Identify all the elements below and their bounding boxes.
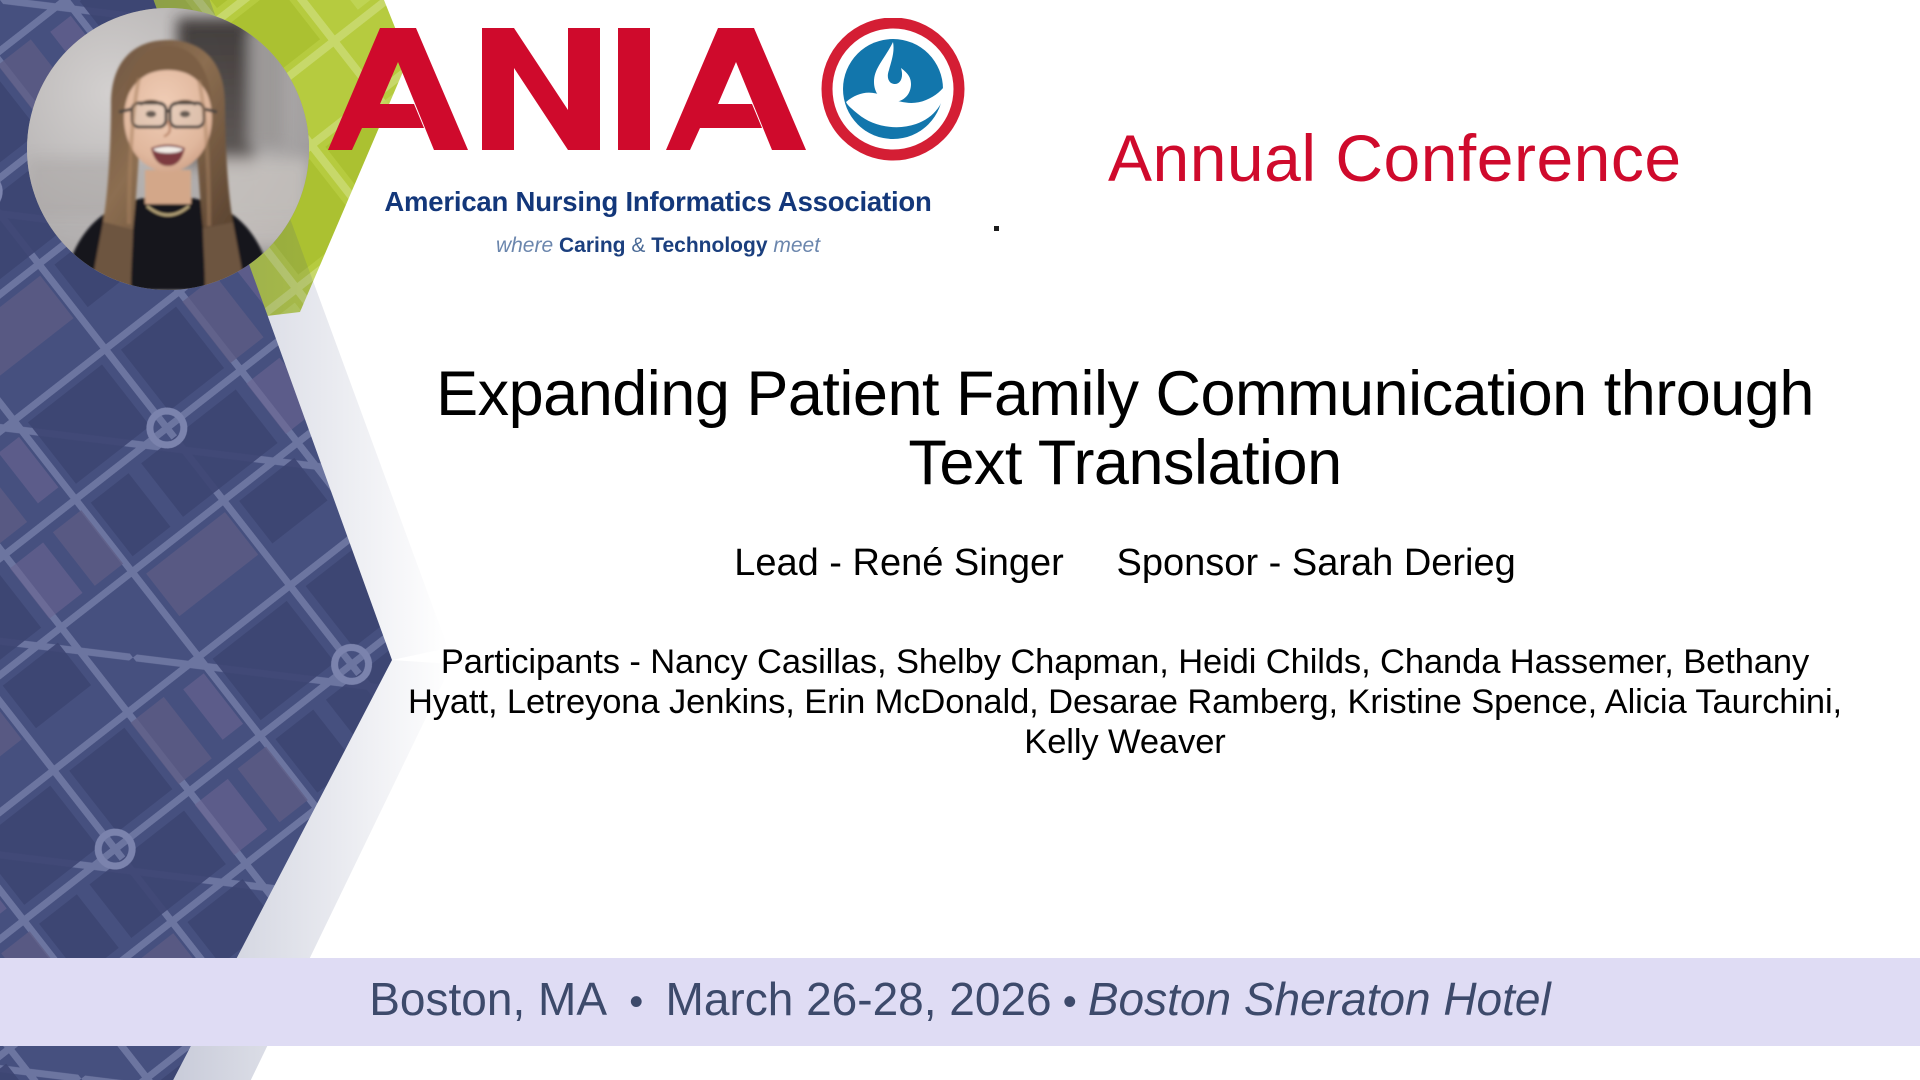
footer-dates: March 26-28, 2026 — [666, 973, 1052, 1025]
org-name: American Nursing Informatics Association — [318, 186, 998, 218]
page-title: Expanding Patient Family Communication t… — [400, 360, 1850, 499]
roles-line: Lead - René Singer Sponsor - Sarah Derie… — [400, 541, 1850, 587]
footer-separator-2: • — [1052, 980, 1088, 1024]
presentation-slide: American Nursing Informatics Association… — [0, 0, 1920, 1080]
stray-dot-artifact — [994, 226, 999, 231]
tagline-word-technology: Technology — [651, 234, 767, 257]
tagline-ampersand: & — [631, 234, 645, 257]
footer-venue: Boston Sheraton Hotel — [1088, 973, 1551, 1025]
footer-text: Boston, MA • March 26-28, 2026 • Boston … — [0, 972, 1920, 1026]
ania-logo: American Nursing Informatics Association… — [318, 18, 998, 258]
tagline-word-meet: meet — [773, 234, 820, 257]
ania-letters — [328, 28, 806, 150]
brand-tagline: where Caring & Technology meet — [318, 234, 998, 258]
participants-line: Participants - Nancy Casillas, Shelby Ch… — [400, 642, 1850, 762]
presenter-video-bubble[interactable] — [27, 8, 309, 290]
presenter-video-frame — [27, 8, 309, 290]
event-label: Annual Conference — [1108, 120, 1682, 196]
footer-separator-1: • — [607, 980, 665, 1024]
slide-body: Expanding Patient Family Communication t… — [400, 360, 1850, 762]
tagline-word-caring: Caring — [559, 234, 626, 257]
footer-location: Boston, MA — [369, 973, 607, 1025]
tagline-word-where: where — [496, 234, 553, 257]
ania-wordmark-graphic — [318, 18, 998, 178]
ania-wordmark — [318, 18, 998, 178]
hand-holding-flame-emblem — [827, 23, 959, 155]
